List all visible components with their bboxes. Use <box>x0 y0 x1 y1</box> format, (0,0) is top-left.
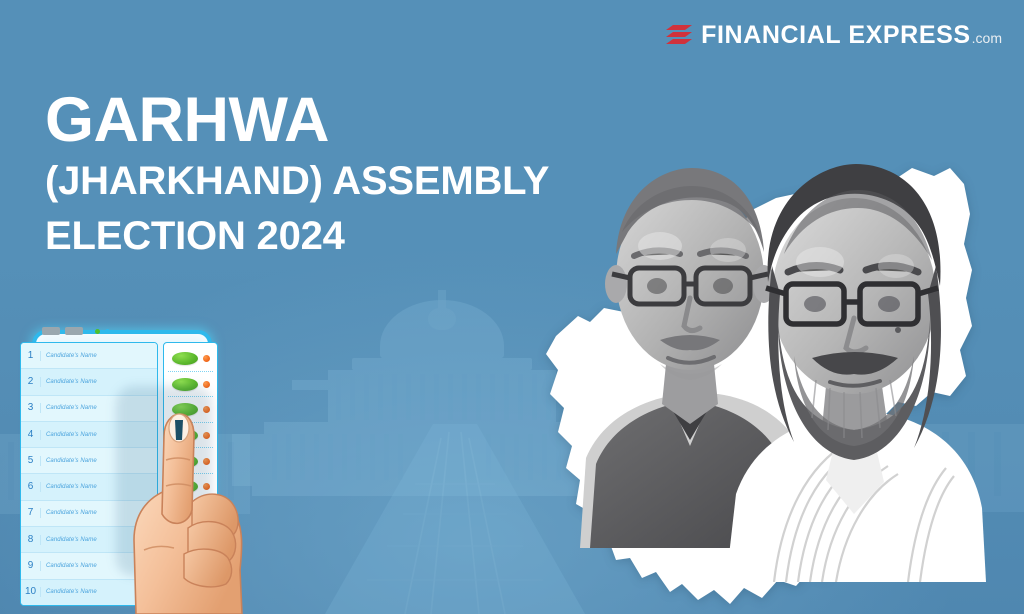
candidate-name: Candidate's Name <box>41 537 97 543</box>
status-led-blue-icon <box>105 329 110 334</box>
vote-lamp-icon <box>203 381 210 388</box>
candidate-number: 3 <box>21 403 41 413</box>
evm-tab-right <box>65 327 83 335</box>
politician-portrait-right <box>720 142 990 582</box>
candidate-number: 10 <box>21 587 41 597</box>
vote-row-1[interactable] <box>164 346 217 372</box>
candidate-name: Candidate's Name <box>41 405 97 411</box>
headline-line-3: ELECTION 2024 <box>45 209 605 264</box>
vote-button-icon[interactable] <box>172 352 198 365</box>
candidate-number: 8 <box>21 535 41 545</box>
candidate-number: 1 <box>21 351 41 361</box>
candidate-number: 7 <box>21 508 41 518</box>
candidate-name: Candidate's Name <box>41 563 97 569</box>
financial-express-slant-bars-icon <box>666 23 692 47</box>
brand-wordmark: FINANCIAL EXPRESS.com <box>701 23 1002 48</box>
candidate-number: 6 <box>21 482 41 492</box>
headline-line-2: (JHARKHAND) ASSEMBLY <box>45 154 605 209</box>
list-item[interactable]: 1 Candidate's Name <box>21 343 157 369</box>
pointing-hand-with-inked-finger-icon <box>122 398 247 614</box>
brand-logo[interactable]: FINANCIAL EXPRESS.com <box>666 20 1002 50</box>
poster-canvas: GARHWA (JHARKHAND) ASSEMBLY ELECTION 202… <box>0 0 1024 614</box>
power-led-green-icon <box>95 329 100 334</box>
candidate-number: 5 <box>21 456 41 466</box>
candidate-number: 2 <box>21 377 41 387</box>
brand-suffix: .com <box>972 31 1002 45</box>
headline-line-1: GARHWA <box>45 88 605 154</box>
electronic-voting-machine[interactable]: 1 Candidate's Name 2 Candidate's Name 3 … <box>12 326 224 614</box>
candidate-name: Candidate's Name <box>41 510 97 516</box>
candidate-name: Candidate's Name <box>41 484 97 490</box>
page-title: GARHWA (JHARKHAND) ASSEMBLY ELECTION 202… <box>45 88 605 264</box>
candidate-name: Candidate's Name <box>41 589 97 595</box>
candidate-name: Candidate's Name <box>41 458 97 464</box>
evm-top-indicators <box>42 324 162 338</box>
candidate-name: Candidate's Name <box>41 353 97 359</box>
candidate-name: Candidate's Name <box>41 432 97 438</box>
candidate-number: 9 <box>21 561 41 571</box>
candidate-number: 4 <box>21 430 41 440</box>
brand-name: FINANCIAL EXPRESS <box>701 23 971 48</box>
vote-lamp-icon <box>203 355 210 362</box>
evm-tab-left <box>42 327 60 335</box>
candidate-name: Candidate's Name <box>41 379 97 385</box>
